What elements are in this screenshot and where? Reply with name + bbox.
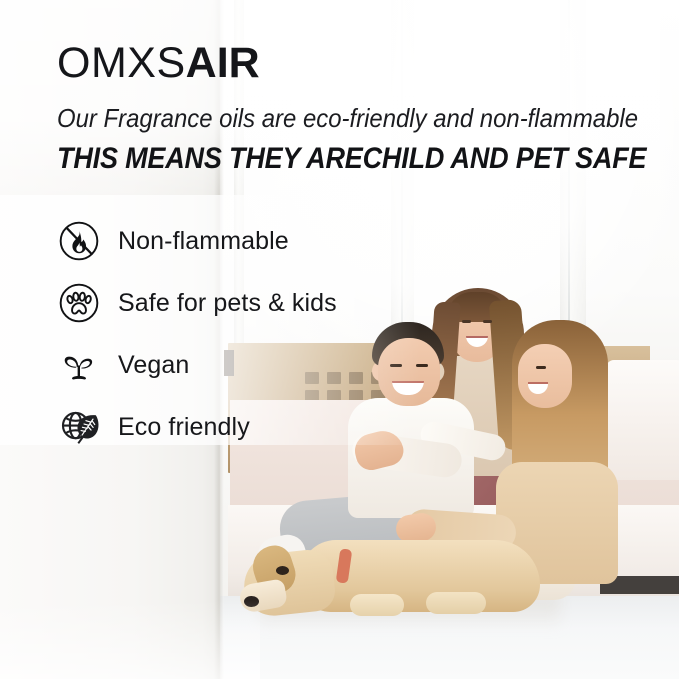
feature-item-non-flammable: Non-flammable	[56, 210, 386, 272]
brand-logo: OMXSAIR	[57, 42, 260, 85]
product-infographic: OMXSAIR Our Fragrance oils are eco-frien…	[0, 0, 679, 679]
brand-name-light: OMXS	[57, 39, 186, 87]
no-flame-icon	[56, 218, 102, 264]
brand-name-bold: AIR	[186, 39, 260, 87]
feature-item-vegan: Vegan	[56, 334, 386, 396]
paw-print-icon	[56, 280, 102, 326]
feature-item-eco-friendly: Eco friendly	[56, 396, 386, 458]
tagline: Our Fragrance oils are eco-friendly and …	[57, 103, 638, 134]
headline: THIS MEANS THEY ARECHILD AND PET SAFE	[57, 142, 646, 176]
globe-leaf-icon	[56, 404, 102, 450]
feature-label: Non-flammable	[118, 227, 289, 256]
feature-label: Safe for pets & kids	[118, 289, 337, 318]
feature-list: Non-flammable Safe for pets & kids	[56, 210, 386, 458]
feature-item-pet-safe: Safe for pets & kids	[56, 272, 386, 334]
content-layer: OMXSAIR Our Fragrance oils are eco-frien…	[0, 0, 679, 679]
feature-label: Vegan	[118, 351, 189, 380]
feature-label: Eco friendly	[118, 413, 250, 442]
sprout-icon	[56, 342, 102, 388]
